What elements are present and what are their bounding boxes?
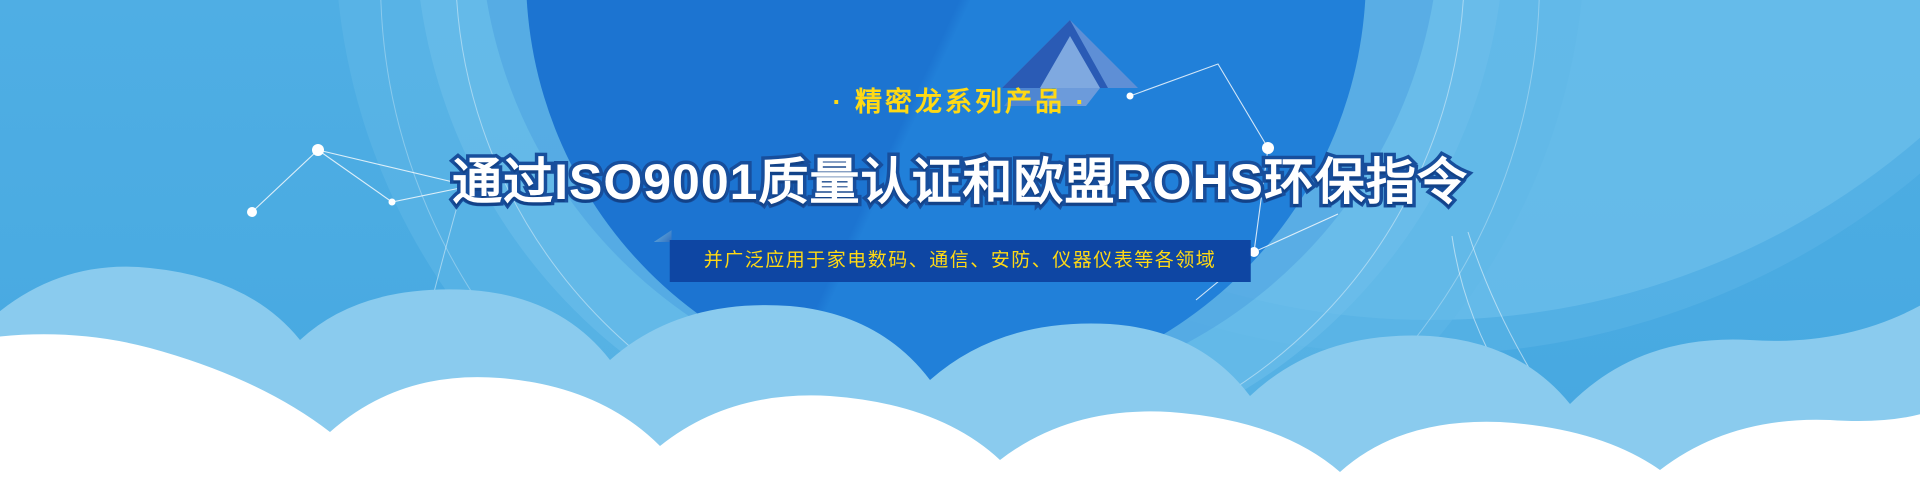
banner-headline: 通过ISO9001质量认证和欧盟ROHS环保指令	[0, 142, 1920, 214]
banner-subtitle: · 精密龙系列产品 ·	[0, 80, 1920, 119]
ribbon-label: 并广泛应用于家电数码、通信、安防、仪器仪表等各领域	[704, 240, 1217, 282]
banner-ribbon: 并广泛应用于家电数码、通信、安防、仪器仪表等各领域	[670, 240, 1251, 282]
promo-banner: · 精密龙系列产品 · 通过ISO9001质量认证和欧盟ROHS环保指令 并广泛…	[0, 0, 1920, 480]
banner-content: · 精密龙系列产品 · 通过ISO9001质量认证和欧盟ROHS环保指令 并广泛…	[0, 0, 1920, 480]
